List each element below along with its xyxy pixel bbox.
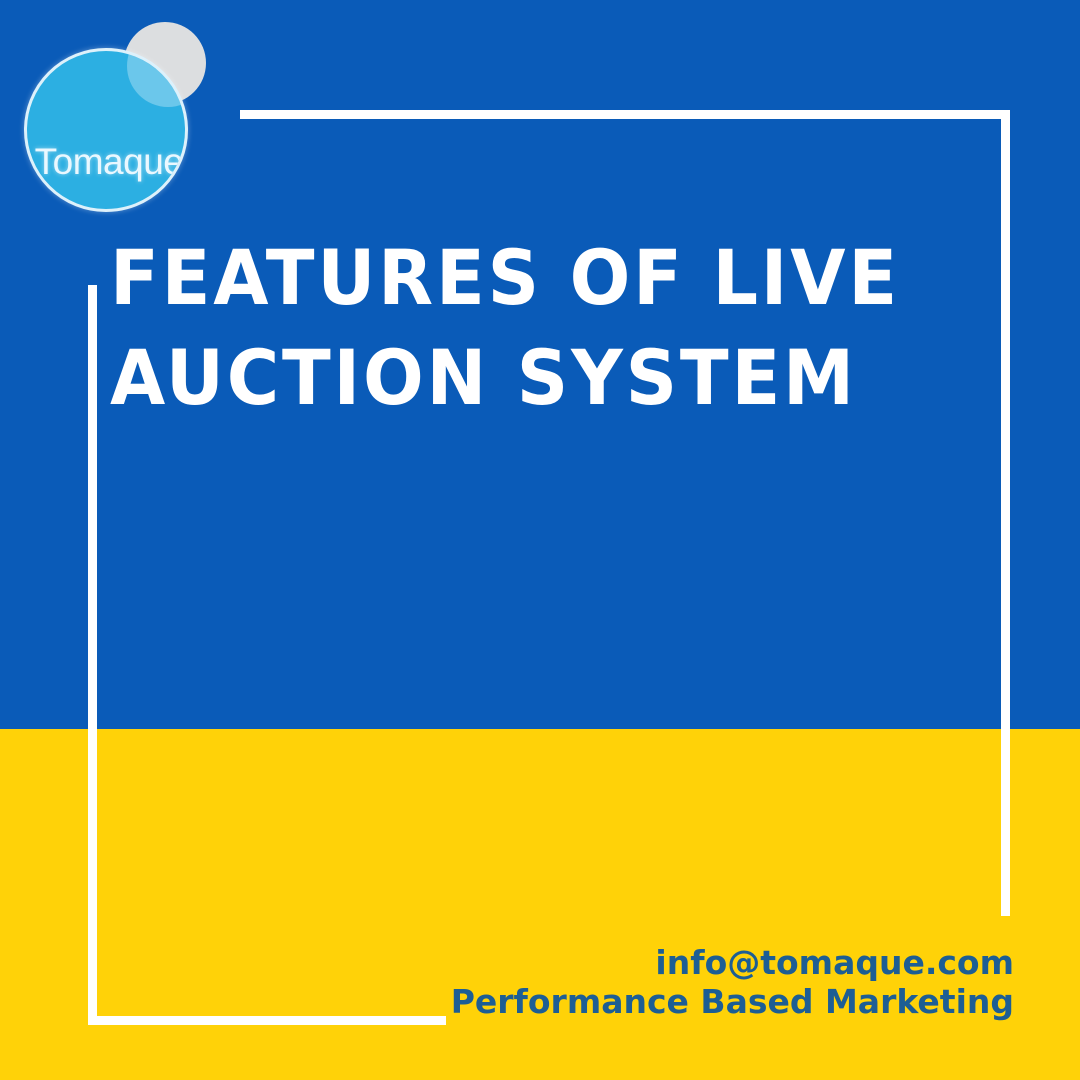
background-band-yellow [0, 729, 1080, 1080]
logo-circle-overlap-icon [127, 48, 188, 107]
frame-line-bottom [88, 1016, 446, 1025]
page-title: FEATURES OF LIVE AUCTION SYSTEM [110, 228, 950, 429]
frame-line-right [1001, 110, 1010, 916]
logo-main-circle-icon: Tomaque [24, 48, 188, 212]
page-title-line-2: AUCTION SYSTEM [110, 328, 900, 428]
frame-line-top [240, 110, 1010, 119]
footer-email[interactable]: info@tomaque.com [394, 944, 1014, 983]
poster-canvas: Tomaque FEATURES OF LIVE AUCTION SYSTEM … [0, 0, 1080, 1080]
logo-brand-text: Tomaque [27, 143, 188, 180]
footer-tagline: Performance Based Marketing [394, 983, 1014, 1022]
footer-contact-block: info@tomaque.com Performance Based Marke… [394, 944, 1014, 1022]
page-title-line-1: FEATURES OF LIVE [110, 228, 900, 328]
brand-logo: Tomaque [18, 14, 213, 214]
frame-line-left [88, 285, 97, 1025]
